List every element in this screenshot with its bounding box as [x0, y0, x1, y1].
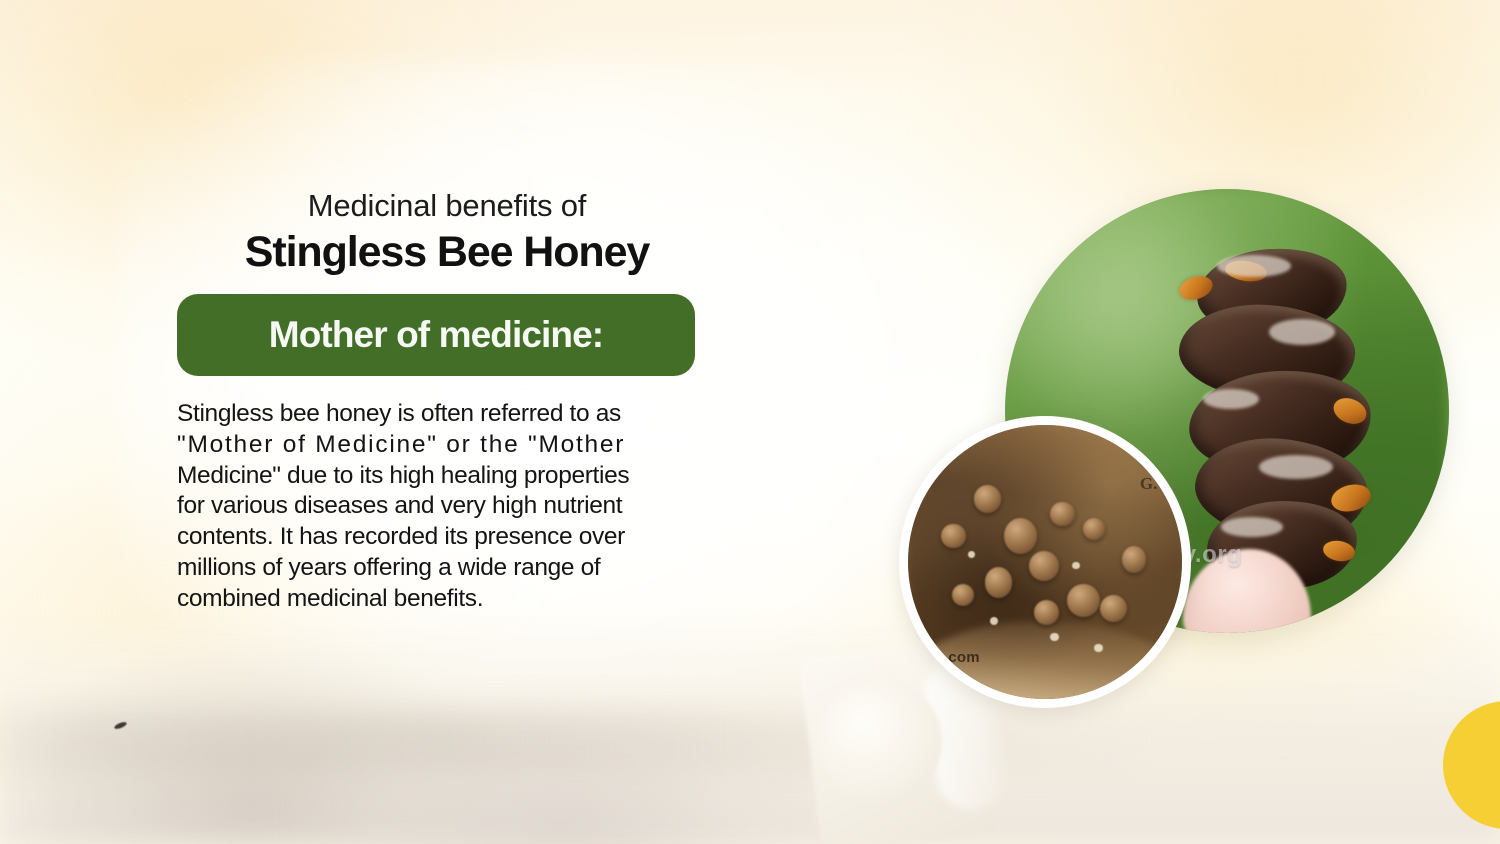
body-line: combined medicinal benefits.	[177, 584, 717, 615]
slide-canvas: ey.org G. s.com Medicinal benefits of St…	[0, 0, 1500, 844]
propolis-resin-cluster	[1173, 249, 1375, 579]
eyebrow-text: Medicinal benefits of	[177, 190, 717, 223]
body-paragraph: Stingless bee honey is often referred to…	[177, 399, 717, 615]
page-title: Stingless Bee Honey	[177, 229, 717, 275]
background-blurred-object-center	[300, 704, 820, 844]
body-line: Medicine" due to its high healing proper…	[177, 461, 717, 492]
photo-watermark-corner: G.	[1140, 474, 1157, 494]
badge-label: Mother of medicine:	[269, 314, 603, 356]
text-column: Medicinal benefits of Stingless Bee Hone…	[177, 190, 717, 615]
body-line: for various diseases and very high nutri…	[177, 491, 717, 522]
body-line: contents. It has recorded its presence o…	[177, 522, 717, 553]
body-line: Stingless bee honey is often referred to…	[177, 399, 717, 430]
photo-watermark-small: s.com	[935, 649, 979, 666]
stingless-bee-nest-photo: G. s.com	[899, 416, 1191, 708]
body-line: "Mother of Medicine" or the "Mother	[177, 430, 717, 461]
mother-of-medicine-badge: Mother of medicine:	[177, 294, 695, 376]
photo-inner-circle: G. s.com	[908, 425, 1182, 699]
body-line: millions of years offering a wide range …	[177, 553, 717, 584]
